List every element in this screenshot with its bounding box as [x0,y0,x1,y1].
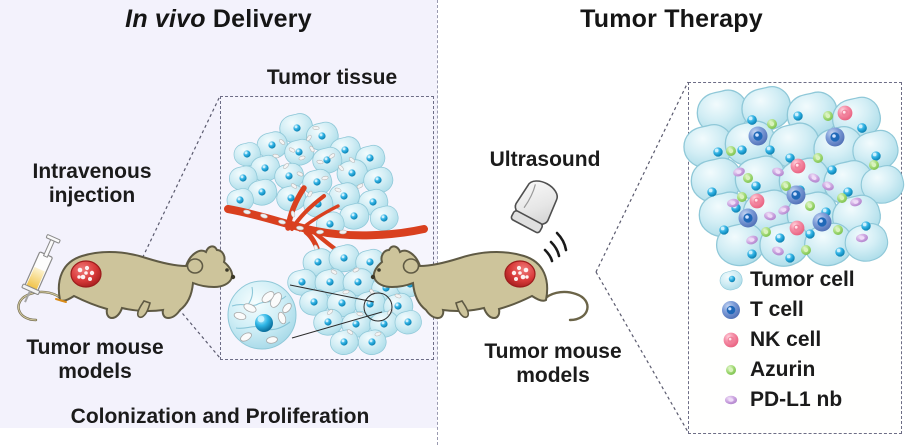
tumor-nodule-left [71,261,101,287]
ultrasound-probe-icon [509,175,566,261]
t-cell-icon [716,299,746,321]
legend-label-t-cell: T cell [750,298,804,322]
legend-label-azurin: Azurin [750,358,815,382]
nk-cell-icon [716,329,746,351]
tumor-nodule-right [505,261,535,287]
tumor-tissue-illustration [227,114,424,355]
azurin-icon [716,359,746,381]
legend-item-nk-cell: NK cell [716,325,855,355]
left-connector-lines [140,96,220,358]
therapy-tumor-cells [684,87,904,267]
magnified-cell-view [228,281,296,349]
legend-item-t-cell: T cell [716,295,855,325]
tumor-cell-icon [716,269,746,291]
ultrasound-waves [545,233,566,261]
legend-item-pdl1-nb: PD-L1 nb [716,385,855,415]
legend-label-tumor-cell: Tumor cell [750,268,855,292]
right-connector-lines [596,82,688,432]
pdl1-nb-icon [716,389,746,411]
tumor-microenvironment-illustration [684,87,904,267]
legend-item-azurin: Azurin [716,355,855,385]
cell-type-legend: Tumor cell T cell [716,265,855,415]
legend-label-pdl1-nb: PD-L1 nb [750,388,842,412]
legend-item-tumor-cell: Tumor cell [716,265,855,295]
scientific-figure: In vivo Delivery Tumor Therapy Tumor tis… [0,0,906,445]
legend-label-nk-cell: NK cell [750,328,821,352]
